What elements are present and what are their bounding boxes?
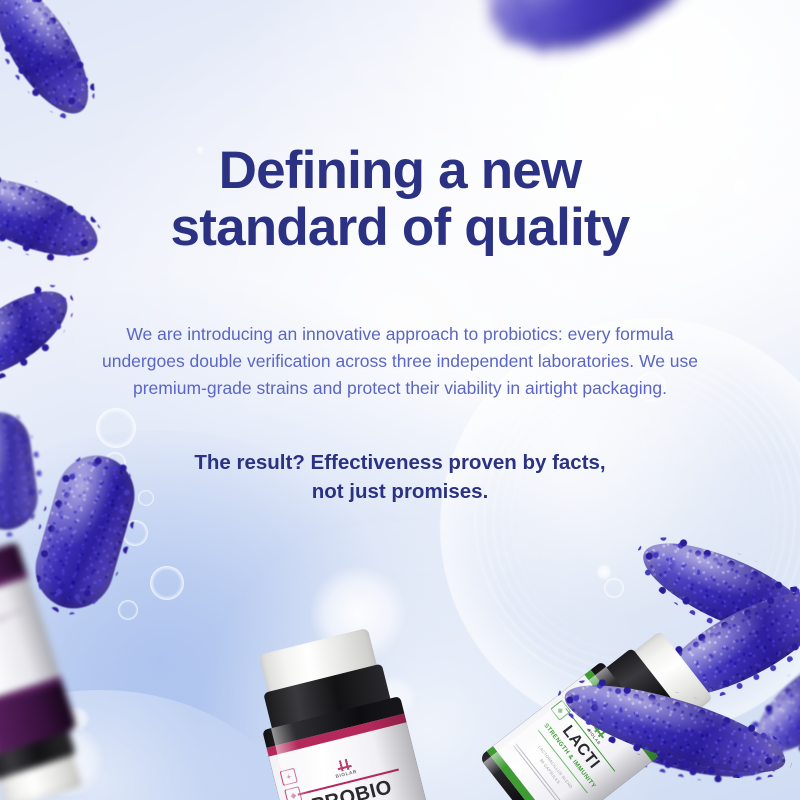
rod-shaped-bacterium	[0, 408, 42, 534]
page-title: Defining a new standard of quality	[50, 143, 750, 256]
label-icon-column: ✦ ◈ ❀	[280, 768, 307, 800]
capsule-icon: ✦	[280, 768, 298, 786]
headline-line-2: standard of quality	[50, 200, 750, 257]
result-statement-line-1: The result? Effectiveness proven by fact…	[110, 448, 690, 477]
bokeh-light-orb	[96, 408, 136, 448]
bokeh-light-orb	[712, 102, 726, 116]
bokeh-light-orb	[608, 112, 630, 134]
result-statement-line-2: not just promises.	[110, 477, 690, 506]
rod-shaped-bacterium	[0, 275, 81, 393]
rod-shaped-bacterium	[0, 0, 106, 128]
product-bottle-probio: ✦ ◈ ❀ BIOLAB PROBIO BALANCE & THRIVE PRO…	[221, 618, 461, 800]
bokeh-light-orb	[118, 600, 138, 620]
body-paragraph: We are introducing an innovative approac…	[88, 321, 712, 403]
rod-shaped-bacterium-blurred	[466, 0, 729, 80]
bokeh-light-orb	[150, 566, 184, 600]
result-statement: The result? Effectiveness proven by fact…	[110, 448, 690, 506]
headline-line-1: Defining a new	[50, 143, 750, 200]
poster-canvas: ✦ ◈ ❀ BIOLAB PROBIO BALANCE & THRIVE PRO…	[0, 0, 800, 800]
